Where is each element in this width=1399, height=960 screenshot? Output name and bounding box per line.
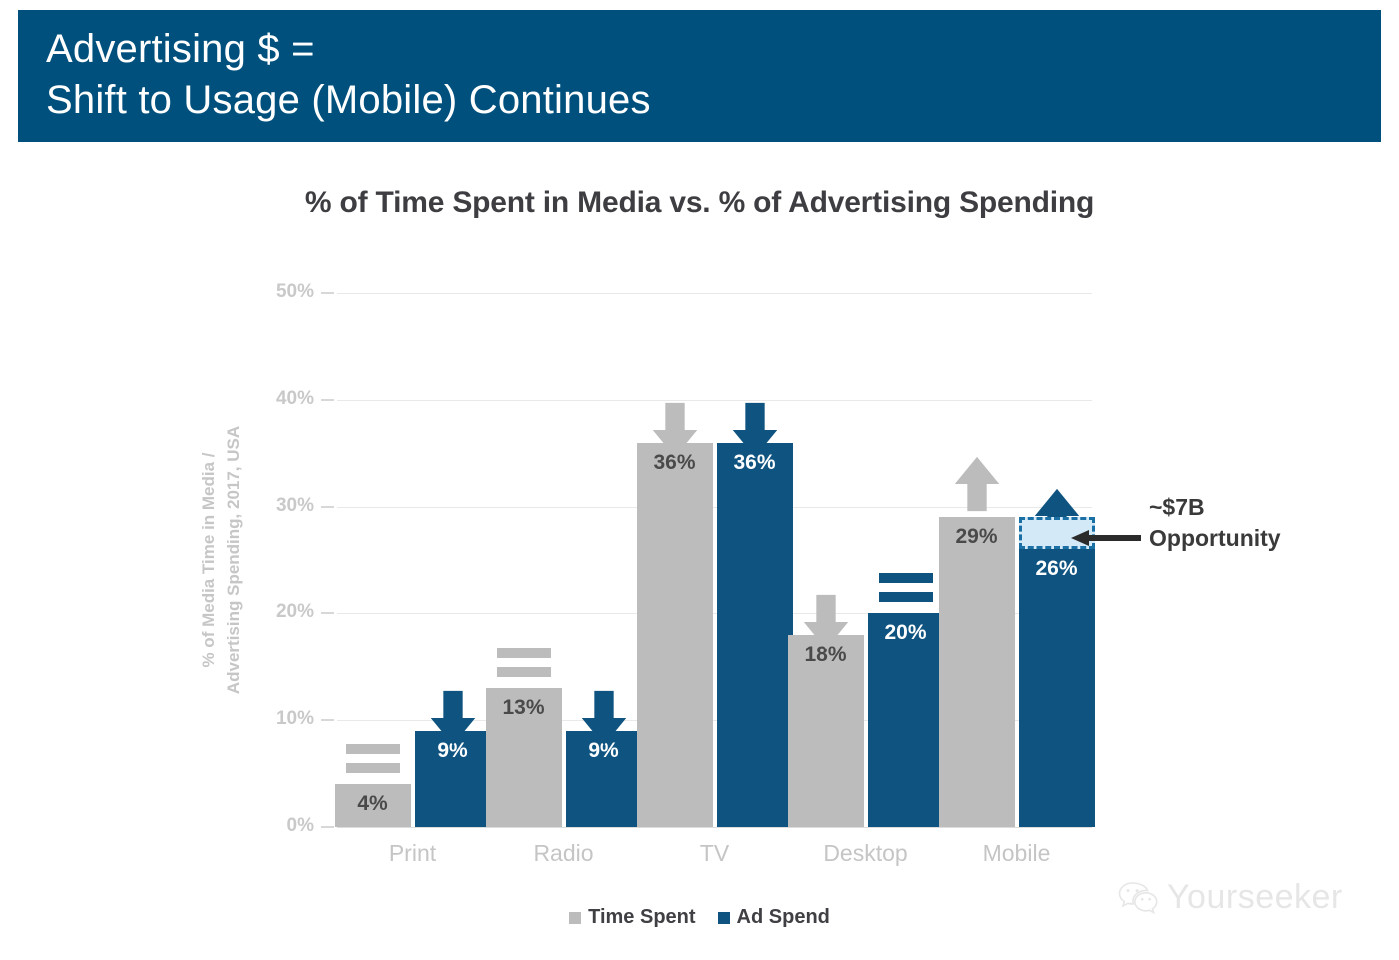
- legend-swatch-icon: [718, 912, 730, 924]
- legend-swatch-icon: [569, 912, 581, 924]
- bar-value-label: 13%: [486, 696, 562, 720]
- y-axis-title: % of Media Time in Media / Advertising S…: [196, 0, 252, 293]
- y-tick-dash: [321, 719, 334, 721]
- bar-value-label: 26%: [1019, 557, 1095, 581]
- bar-print-time-spent[interactable]: 4%: [335, 784, 411, 827]
- y-tick-label-20%: 20%: [252, 601, 314, 623]
- y-tick-dash: [321, 826, 334, 828]
- y-tick-label-30%: 30%: [252, 495, 314, 517]
- bar-desktop-time-spent[interactable]: 18%: [788, 635, 864, 827]
- opportunity-arrow-icon: [1071, 529, 1141, 547]
- watermark-text: Yourseeker: [1167, 878, 1343, 917]
- trend-equal-icon-print-time-spent: [346, 744, 400, 774]
- y-tick-label-50%: 50%: [252, 281, 314, 303]
- x-axis-label-radio: Radio: [484, 840, 644, 867]
- bar-value-label: 4%: [335, 792, 411, 816]
- trend-down-arrow-icon-desktop-time-spent: [799, 593, 853, 651]
- trend-down-arrow-icon-radio-ad-spend: [577, 689, 631, 747]
- trend-up-arrow-icon-mobile-time-spent: [950, 455, 1004, 513]
- bar-desktop-ad-spend[interactable]: 20%: [868, 613, 944, 827]
- trend-down-arrow-icon-print-ad-spend: [426, 689, 480, 747]
- gridline-50%: [337, 293, 1092, 294]
- bar-value-label: 20%: [868, 621, 944, 645]
- trend-equal-icon-radio-time-spent: [497, 648, 551, 678]
- legend-label: Time Spent: [588, 906, 695, 929]
- bar-radio-time-spent[interactable]: 13%: [486, 688, 562, 827]
- bar-tv-time-spent[interactable]: 36%: [637, 443, 713, 827]
- bar-mobile-ad-spend[interactable]: 26%: [1019, 549, 1095, 827]
- trend-down-arrow-icon-tv-ad-spend: [728, 401, 782, 459]
- y-tick-dash: [321, 506, 334, 508]
- plot-area: 4%9%13%9%36%36%18%20%29%26%: [337, 293, 1092, 827]
- legend-item-time-spent[interactable]: Time Spent: [569, 906, 695, 929]
- y-tick-dash: [321, 399, 334, 401]
- y-tick-label-10%: 10%: [252, 708, 314, 730]
- y-tick-dash: [321, 292, 334, 294]
- gridline-40%: [337, 400, 1092, 401]
- opportunity-label: Opportunity: [1149, 523, 1379, 554]
- trend-down-arrow-icon-tv-time-spent: [648, 401, 702, 459]
- trend-equal-icon-desktop-ad-spend: [879, 573, 933, 603]
- x-axis-label-tv: TV: [635, 840, 795, 867]
- legend-item-ad-spend[interactable]: Ad Spend: [718, 906, 830, 929]
- y-axis-title-line-2: Advertising Spending, 2017, USA: [221, 293, 246, 827]
- y-tick-label-40%: 40%: [252, 388, 314, 410]
- x-axis-label-print: Print: [333, 840, 493, 867]
- gridline-0%: [337, 827, 1092, 828]
- y-tick-label-0%: 0%: [252, 815, 314, 837]
- bar-mobile-time-spent[interactable]: 29%: [939, 517, 1015, 827]
- opportunity-amount: ~$7B: [1149, 492, 1379, 523]
- bar-value-label: 29%: [939, 525, 1015, 549]
- x-axis-label-desktop: Desktop: [786, 840, 946, 867]
- x-axis-label-mobile: Mobile: [937, 840, 1097, 867]
- y-axis-title-line-1: % of Media Time in Media /: [196, 293, 221, 827]
- bar-tv-ad-spend[interactable]: 36%: [717, 443, 793, 827]
- legend-label: Ad Spend: [737, 906, 830, 929]
- y-tick-dash: [321, 612, 334, 614]
- watermark: Yourseeker: [1118, 878, 1343, 917]
- wechat-icon: [1118, 881, 1158, 915]
- opportunity-callout: ~$7B Opportunity: [1149, 492, 1379, 554]
